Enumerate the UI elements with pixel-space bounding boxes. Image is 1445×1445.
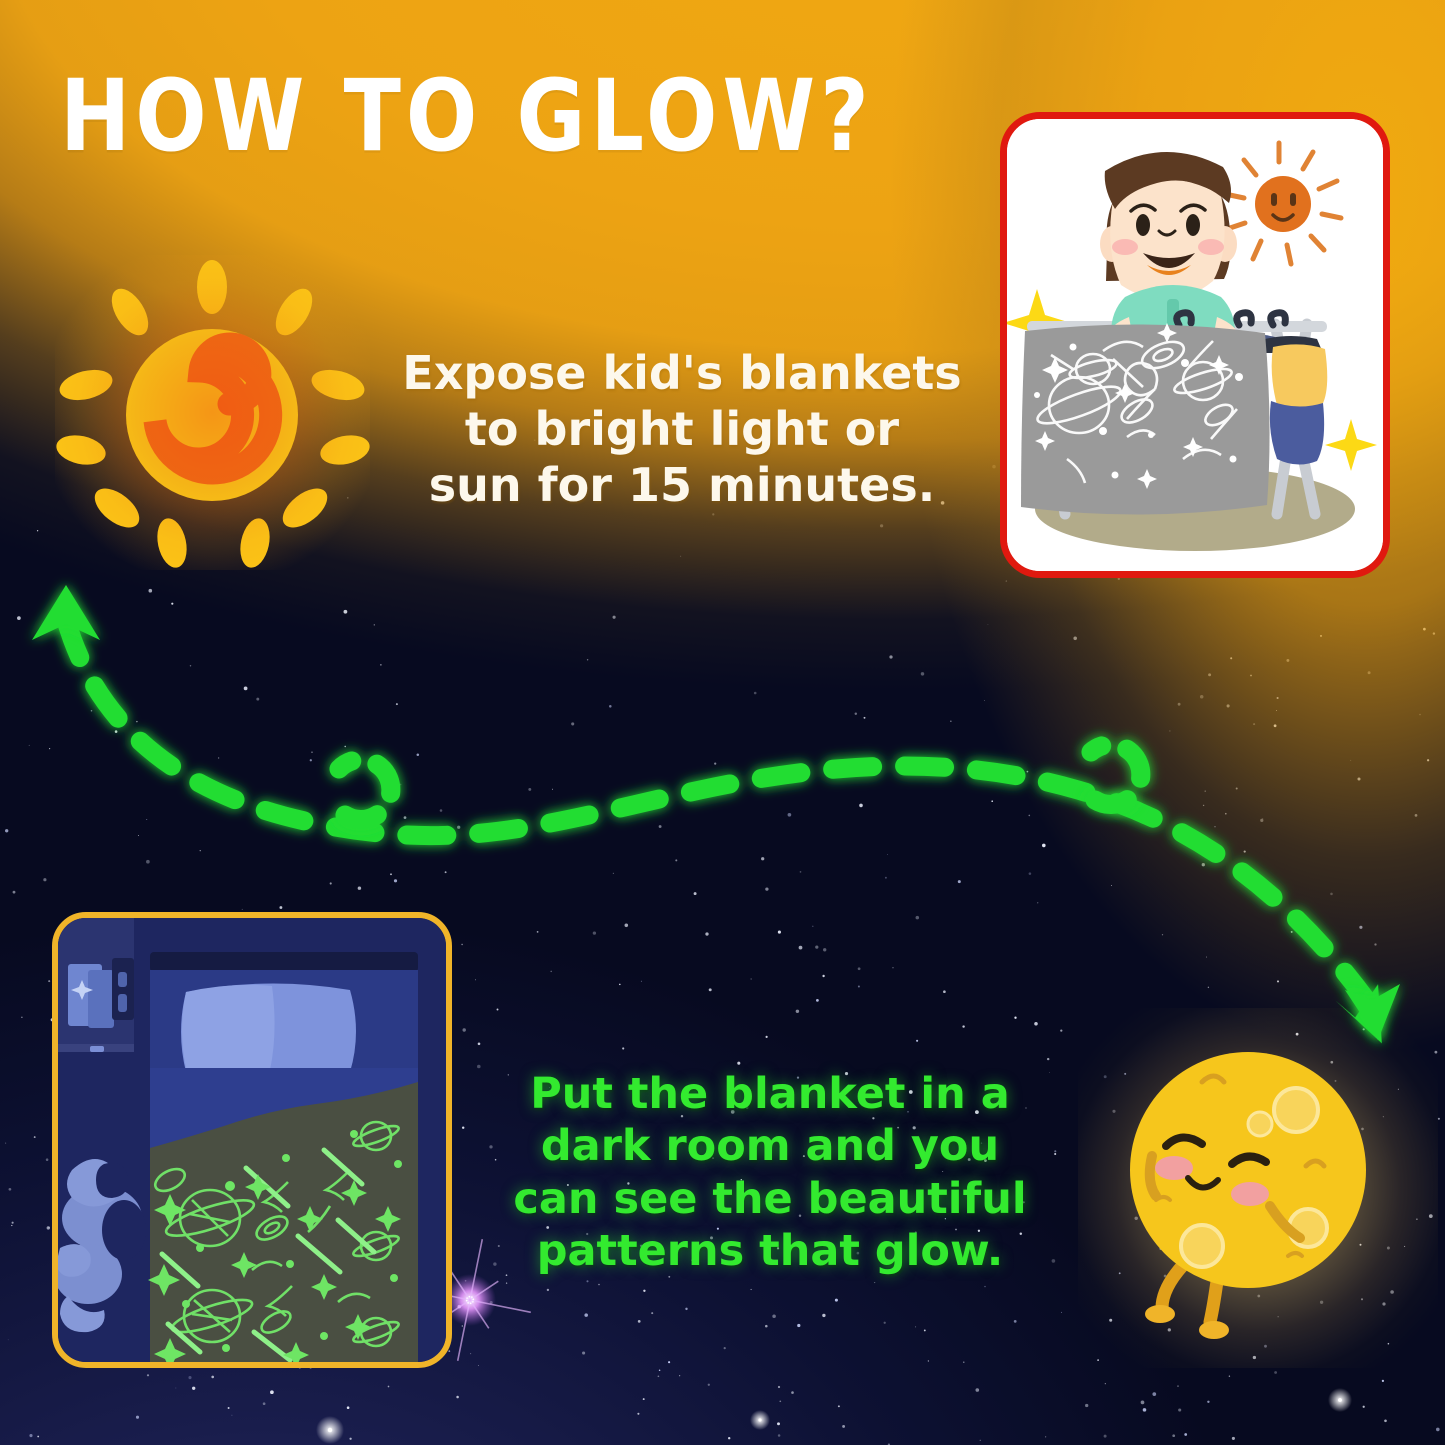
step-1-line-2: to bright light or	[392, 401, 972, 457]
boy-hanging-blanket-photo	[1000, 112, 1390, 578]
smiling-moon-icon	[1118, 1048, 1403, 1348]
step-2-line-2: dark room and you	[470, 1120, 1070, 1172]
step-1-line-1: Expose kid's blankets	[392, 345, 972, 401]
sun-face	[1255, 176, 1311, 232]
step-2-line-1: Put the blanket in a	[470, 1068, 1070, 1120]
infographic-canvas: HOW TO GLOW? Expose kid's blankets	[0, 0, 1445, 1445]
step-2-line-3: can see the beautiful	[470, 1173, 1070, 1225]
hanging-shirt	[1272, 344, 1328, 410]
boy-character	[1100, 152, 1241, 339]
page-title: HOW TO GLOW?	[60, 58, 874, 174]
hanging-pants	[1270, 401, 1324, 465]
sun-icon-glow	[55, 255, 370, 570]
step-2-instruction: Put the blanket in a dark room and you c…	[470, 1068, 1070, 1278]
step-1-instruction: Expose kid's blankets to bright light or…	[392, 345, 972, 513]
space-pattern-blanket	[1021, 323, 1270, 515]
step-2-line-4: patterns that glow.	[470, 1225, 1070, 1277]
step-1-line-3: sun for 15 minutes.	[392, 457, 972, 513]
dark-bedroom-glowing-blanket-photo	[52, 912, 452, 1368]
sun-spiral-icon	[55, 255, 370, 570]
